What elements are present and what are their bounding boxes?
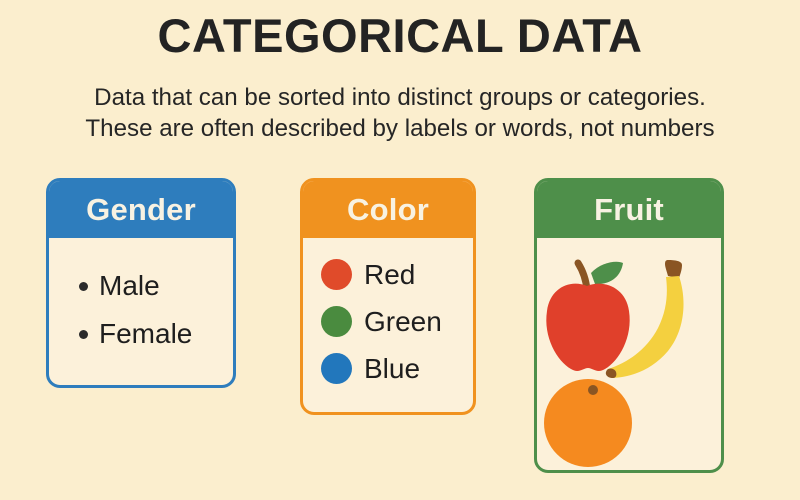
color-swatch-green-icon: [321, 306, 352, 337]
color-swatch-blue-icon: [321, 353, 352, 384]
card-fruit-body: [537, 238, 721, 470]
list-item: Blue: [321, 345, 473, 392]
card-gender[interactable]: Gender Male Female: [46, 178, 236, 388]
page-subtitle: Data that can be sorted into distinct gr…: [0, 82, 800, 144]
orange-body: [544, 379, 632, 467]
list-item-label: Red: [364, 259, 415, 291]
orange-navel: [588, 385, 598, 395]
color-value-list: Red Green Blue: [303, 238, 473, 392]
list-item-label: Female: [99, 318, 192, 350]
bullet-icon: [79, 282, 88, 291]
subtitle-line-1: Data that can be sorted into distinct gr…: [6, 82, 794, 113]
card-gender-title: Gender: [86, 192, 196, 228]
banana-stem-top: [665, 260, 682, 278]
card-gender-header: Gender: [49, 181, 233, 238]
color-swatch-red-icon: [321, 259, 352, 290]
apple-leaf: [591, 262, 623, 284]
card-color-body: Red Green Blue: [303, 238, 473, 412]
list-item: Female: [79, 310, 233, 358]
apple-body: [546, 284, 629, 371]
fruit-illustration-group: [537, 238, 721, 470]
page-title: CATEGORICAL DATA: [0, 12, 800, 59]
list-item-label: Male: [99, 270, 160, 302]
card-color-header: Color: [303, 181, 473, 238]
subtitle-line-2: These are often described by labels or w…: [6, 113, 794, 144]
infographic-canvas: CATEGORICAL DATA Data that can be sorted…: [0, 0, 800, 500]
orange-icon: [544, 379, 632, 467]
apple-icon: [546, 262, 629, 371]
card-color-title: Color: [347, 192, 429, 228]
list-item: Green: [321, 298, 473, 345]
card-color[interactable]: Color Red Green Blue: [300, 178, 476, 415]
card-gender-body: Male Female: [49, 238, 233, 385]
list-item-label: Blue: [364, 353, 420, 385]
list-item-label: Green: [364, 306, 442, 338]
bullet-icon: [79, 330, 88, 339]
gender-value-list: Male Female: [49, 238, 233, 358]
card-fruit-header: Fruit: [537, 181, 721, 238]
card-fruit[interactable]: Fruit: [534, 178, 724, 473]
card-fruit-title: Fruit: [594, 192, 664, 228]
list-item: Red: [321, 251, 473, 298]
list-item: Male: [79, 262, 233, 310]
